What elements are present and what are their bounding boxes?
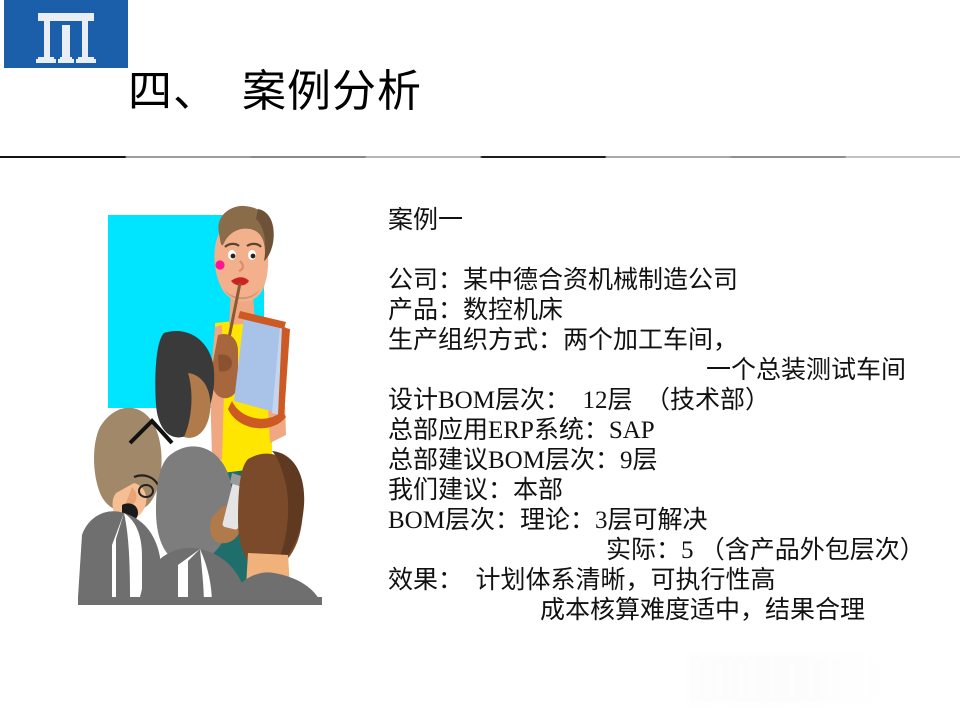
text-line: 总部应用ERP系统：SAP	[388, 416, 954, 446]
text-line: 案例一	[388, 206, 954, 236]
business-meeting-clipart	[72, 205, 334, 605]
text-line: 我们建议：本部	[388, 476, 954, 506]
text-line: 一个总装测试车间	[388, 356, 954, 386]
watermark	[688, 655, 878, 703]
logo-badge	[4, 0, 128, 68]
text-line: 产品：数控机床	[388, 296, 954, 326]
page-title: 四、 案例分析	[128, 70, 422, 114]
text-line: 总部建议BOM层次：9层	[388, 446, 954, 476]
title-divider	[0, 156, 960, 158]
text-blank-line	[388, 236, 954, 266]
gate-emblem-icon	[35, 7, 97, 65]
slide-canvas: 四、 案例分析	[0, 0, 960, 720]
text-line: 成本核算难度适中，结果合理	[388, 596, 954, 626]
text-line: 实际：5 （含产品外包层次）	[388, 536, 954, 566]
text-line: 生产组织方式：两个加工车间，	[388, 326, 954, 356]
earring	[215, 260, 224, 269]
text-line: 效果： 计划体系清晰，可执行性高	[388, 566, 954, 596]
case-detail-text: 案例一 公司：某中德合资机械制造公司 产品：数控机床 生产组织方式：两个加工车间…	[388, 206, 954, 626]
text-line: 设计BOM层次： 12层 （技术部）	[388, 386, 954, 416]
text-line: 公司：某中德合资机械制造公司	[388, 266, 954, 296]
text-line: BOM层次：理论：3层可解决	[388, 506, 954, 536]
